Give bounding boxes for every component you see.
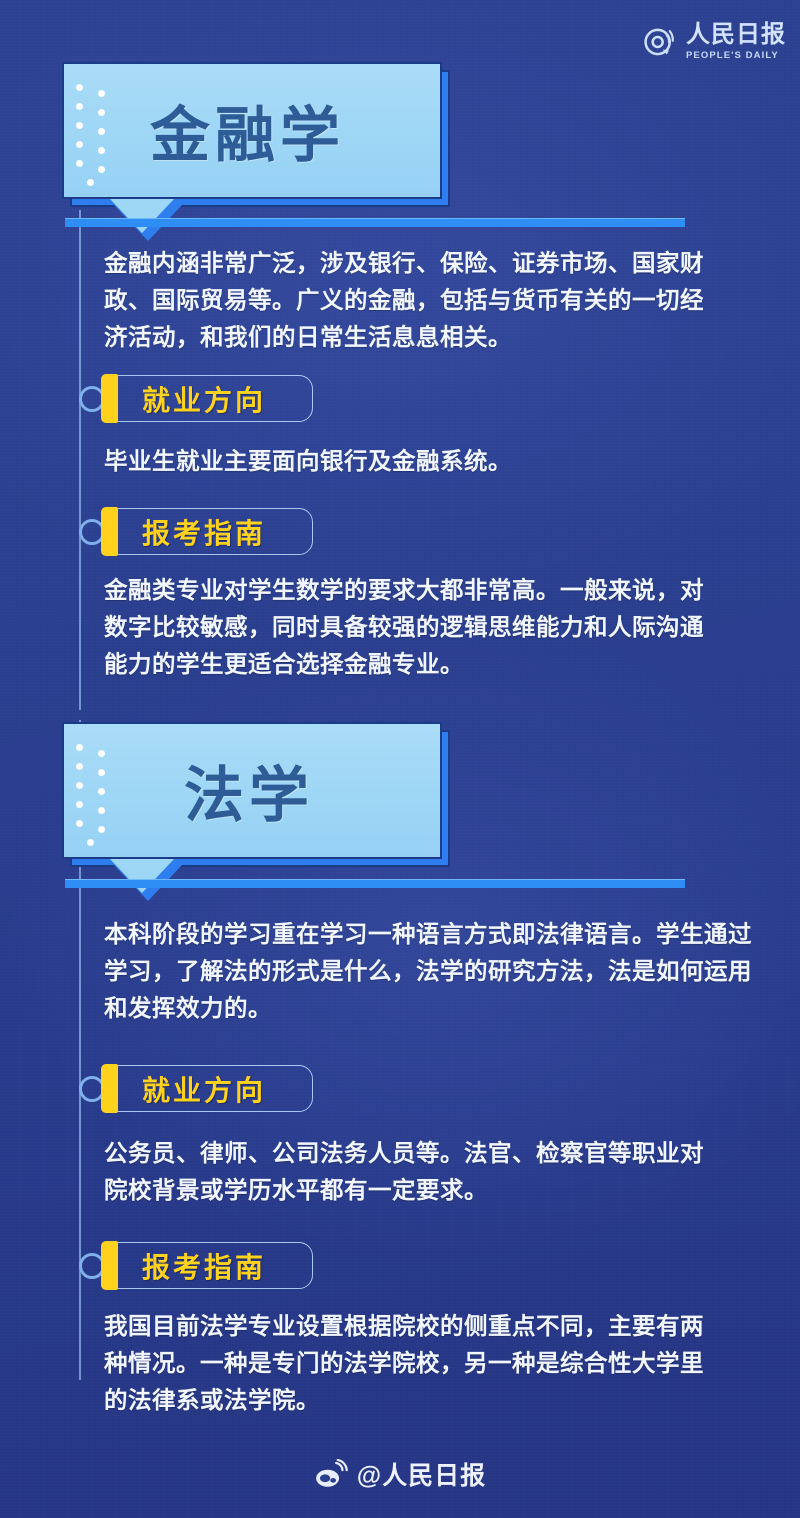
badge-label: 就业方向 xyxy=(105,1065,313,1112)
section-intro-1: 金融内涵非常广泛，涉及银行、保险、证券市场、国家财政、国际贸易等。广义的金融，包… xyxy=(104,245,704,356)
weibo-icon xyxy=(314,1459,348,1489)
badge-label: 报考指南 xyxy=(105,508,313,555)
section-divider-1 xyxy=(65,218,685,227)
badge-guide-2[interactable]: 报考指南 xyxy=(105,1242,313,1289)
badge-label: 就业方向 xyxy=(105,375,313,422)
banner-tail-face xyxy=(110,199,174,233)
timeline-spine-section-1 xyxy=(79,210,81,710)
section-title-2: 法学 xyxy=(62,722,442,859)
section-career-text-2: 公务员、律师、公司法务人员等。法官、检察官等职业对院校背景或学历水平都有一定要求… xyxy=(104,1135,704,1209)
section-intro-2: 本科阶段的学习重在学习一种语言方式即法律语言。学生通过学习，了解法的形式是什么，… xyxy=(104,916,764,1027)
footer-account-name: @人民日报 xyxy=(357,1456,486,1492)
section-banner-2: 法学 xyxy=(62,722,442,859)
badge-career-1[interactable]: 就业方向 xyxy=(105,375,313,422)
brand-name-en: PEOPLE'S DAILY xyxy=(686,51,786,61)
brand-logo: 人民日报 PEOPLE'S DAILY xyxy=(641,22,786,62)
badge-career-2[interactable]: 就业方向 xyxy=(105,1065,313,1112)
footer-attribution: @人民日报 xyxy=(0,1456,800,1492)
section-title-1: 金融学 xyxy=(62,62,442,199)
section-guide-text-2: 我国目前法学专业设置根据院校的侧重点不同，主要有两种情况。一种是专门的法学院校，… xyxy=(104,1308,704,1419)
section-guide-text-1: 金融类专业对学生数学的要求大都非常高。一般来说，对数字比较敏感，同时具备较强的逻… xyxy=(104,572,704,683)
badge-label: 报考指南 xyxy=(105,1242,313,1289)
badge-guide-1[interactable]: 报考指南 xyxy=(105,508,313,555)
section-career-text-1: 毕业生就业主要面向银行及金融系统。 xyxy=(104,443,704,480)
section-banner-1: 金融学 xyxy=(62,62,442,199)
at-sign-icon xyxy=(641,22,681,62)
section-divider-2 xyxy=(65,879,685,888)
brand-name-cn: 人民日报 xyxy=(686,23,786,47)
infographic-page: 人民日报 PEOPLE'S DAILY 金融学 金融内涵非常广泛，涉及银行、保险… xyxy=(0,0,800,1518)
